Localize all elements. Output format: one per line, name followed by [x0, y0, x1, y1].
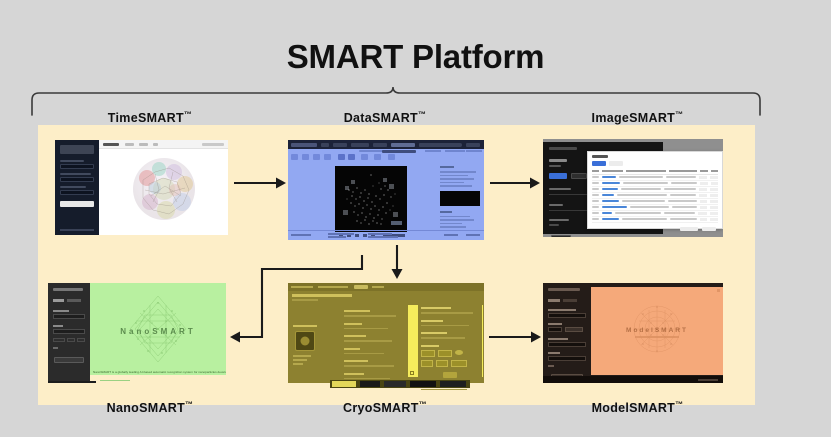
modelsmart-input-2[interactable] [548, 327, 562, 332]
nanosmart-field-label-1 [53, 310, 69, 312]
nanosmart-canvas[interactable]: NanoSMART NanoSMART is a globally leadin… [90, 283, 226, 383]
imagesmart-row-link[interactable] [602, 212, 611, 214]
cryosmart-setting-option-2[interactable] [438, 350, 452, 357]
smart-platform-diagram: SMART Platform TimeSMART™ DataSMART™ Ima… [0, 0, 831, 437]
datasmart-tool-icon-2[interactable] [302, 154, 309, 160]
panel-timesmart[interactable] [55, 140, 228, 235]
imagesmart-browse-button[interactable] [549, 173, 567, 179]
datasmart-menu-4[interactable] [351, 143, 369, 147]
nanosmart-object-label [53, 299, 64, 302]
imagesmart-page-next[interactable] [702, 227, 716, 231]
timesmart-footer [60, 229, 94, 231]
nanosmart-input-1[interactable] [53, 314, 85, 319]
datasmart-search-input[interactable] [430, 143, 462, 147]
imagesmart-logo [549, 147, 577, 150]
arrow-data-to-image [490, 176, 540, 195]
modelsmart-watermark-text: ModelSMART [591, 327, 723, 334]
page-title: SMART Platform [0, 38, 831, 76]
imagesmart-row-link[interactable] [602, 194, 614, 196]
datasmart-tool-icon-3[interactable] [313, 154, 320, 160]
nanosmart-footer-note [100, 380, 130, 382]
imagesmart-results-window[interactable] [587, 151, 723, 229]
imagesmart-field-label-1 [549, 188, 571, 190]
modelsmart-input-4[interactable] [548, 356, 586, 361]
datasmart-top-toolbar[interactable] [288, 140, 484, 149]
nanosmart-taskbar [48, 381, 96, 383]
datasmart-menu-5[interactable] [373, 143, 387, 147]
cryosmart-setting-option-3[interactable] [421, 360, 433, 367]
imagesmart-submit-button[interactable] [551, 235, 571, 237]
timesmart-account[interactable] [202, 143, 224, 146]
cryosmart-settings-group-1 [421, 320, 443, 322]
datasmart-status-bar [288, 230, 484, 240]
timesmart-logo [60, 145, 94, 154]
table-row[interactable] [592, 217, 718, 223]
modelsmart-object-value[interactable] [563, 299, 577, 302]
imagesmart-field-label-2 [549, 204, 563, 206]
imagesmart-filter-2[interactable] [609, 161, 623, 166]
datasmart-tool-icon-6[interactable] [348, 154, 355, 160]
datasmart-menu-active[interactable] [391, 143, 415, 147]
cryosmart-apply-button[interactable] [443, 372, 457, 378]
arrow-data-to-cryo [390, 245, 404, 284]
timesmart-tab-2[interactable] [125, 143, 134, 146]
cryosmart-filmstrip[interactable] [330, 380, 470, 388]
imagesmart-pagination[interactable] [588, 227, 716, 231]
column-label-datasmart: DataSMART™ [290, 110, 480, 125]
imagesmart-field-label-3 [549, 219, 569, 221]
cryosmart-setting-option-5[interactable] [451, 360, 467, 367]
modelsmart-object-label [548, 299, 560, 302]
nanosmart-logo [53, 288, 83, 291]
imagesmart-table-body[interactable] [592, 175, 718, 223]
modelsmart-close-icon[interactable] [717, 289, 720, 292]
nanosmart-option-1[interactable] [53, 338, 65, 342]
timesmart-tab-3[interactable] [139, 143, 148, 146]
imagesmart-row-link[interactable] [602, 182, 620, 184]
datasmart-tool-icon-5[interactable] [338, 154, 345, 160]
cryosmart-color-swatch[interactable] [455, 350, 463, 355]
modelsmart-logo [548, 288, 580, 291]
nanosmart-tagline: NanoSMART is a globally leading AI-based… [90, 370, 226, 374]
datasmart-properties-title [440, 166, 454, 168]
column-label-modelsmart: ModelSMART™ [540, 400, 735, 415]
modelsmart-input-3[interactable] [548, 342, 586, 347]
modelsmart-field-label-2 [548, 323, 562, 325]
datasmart-tool-icon-4[interactable] [324, 154, 331, 160]
modelsmart-field-label-1 [548, 309, 576, 311]
datasmart-tool-icon-7[interactable] [361, 154, 368, 160]
molecular-structure-graphic [125, 150, 203, 228]
modelsmart-field-label-3 [548, 338, 568, 340]
panel-modelsmart[interactable]: ModelSMART [543, 283, 723, 383]
imagesmart-row-link[interactable] [602, 218, 619, 220]
datasmart-preview-thumb[interactable] [440, 191, 480, 206]
datasmart-section-2-title [440, 211, 452, 213]
datasmart-micrograph-viewer[interactable] [335, 166, 407, 232]
cryosmart-setting-option-4[interactable] [436, 360, 448, 367]
modelsmart-watermark-subtitle [635, 336, 679, 338]
imagesmart-filter-active[interactable] [592, 161, 606, 166]
datasmart-tool-icon-9[interactable] [388, 154, 395, 160]
datasmart-breadcrumb [382, 150, 416, 153]
timesmart-tab-4[interactable] [153, 143, 158, 146]
datasmart-menu-3[interactable] [333, 143, 347, 147]
datasmart-menu-file[interactable] [291, 143, 317, 147]
timesmart-toolbar[interactable] [99, 140, 228, 149]
cryosmart-param-label-6 [344, 373, 364, 375]
timesmart-field-label-3 [60, 186, 86, 188]
datasmart-properties-panel[interactable] [440, 166, 480, 228]
panel-datasmart[interactable] [288, 140, 484, 240]
arrow-cryo-to-nano [226, 255, 366, 350]
column-label-timesmart: TimeSMART™ [50, 110, 250, 125]
datasmart-tool-icon-1[interactable] [291, 154, 298, 160]
imagesmart-row-link[interactable] [602, 176, 616, 178]
imagesmart-row-link[interactable] [602, 188, 618, 190]
datasmart-tab-a[interactable] [425, 150, 441, 152]
cryosmart-param-label-5 [344, 360, 368, 362]
datasmart-tab-strip-label [359, 150, 385, 152]
imagesmart-row-link[interactable] [602, 200, 619, 202]
cryosmart-settings-group-2 [421, 332, 447, 334]
timesmart-sidebar[interactable] [55, 140, 99, 235]
modelsmart-field-label-4 [548, 352, 560, 354]
timesmart-select[interactable] [60, 190, 94, 195]
nanosmart-field-label-2 [53, 325, 63, 327]
nanosmart-option-2[interactable] [67, 338, 75, 342]
nanosmart-option-3[interactable] [77, 338, 85, 342]
panel-nanosmart[interactable]: NanoSMART NanoSMART is a globally leadin… [48, 283, 226, 383]
cryosmart-settings-panel[interactable] [418, 305, 482, 379]
arrow-time-to-data [234, 176, 286, 195]
timesmart-tab-active[interactable] [103, 143, 119, 146]
cryosmart-settings-title [421, 307, 451, 309]
cryosmart-setting-option-1[interactable] [421, 350, 435, 357]
nanosmart-analyze-button[interactable] [54, 357, 84, 363]
imagesmart-results-title [592, 155, 608, 158]
cryosmart-scale-marker [410, 371, 414, 375]
imagesmart-page-prev[interactable] [680, 227, 698, 231]
imagesmart-row-link[interactable] [602, 206, 627, 208]
nanosmart-input-2[interactable] [53, 329, 85, 334]
imagesmart-section-import [549, 159, 567, 162]
modelsmart-pick-button[interactable] [565, 327, 583, 332]
nanosmart-sidebar[interactable] [48, 283, 90, 383]
timesmart-field-label [60, 160, 84, 162]
datasmart-tool-icon-8[interactable] [374, 154, 381, 160]
column-label-imagesmart: ImageSMART™ [540, 110, 735, 125]
nanosmart-watermark-text: NanoSMART [90, 327, 226, 336]
modelsmart-input-1[interactable] [548, 313, 586, 318]
timesmart-input-2[interactable] [60, 177, 94, 182]
datasmart-tab-b[interactable] [445, 150, 465, 152]
modelsmart-canvas[interactable]: ModelSMART [591, 287, 723, 375]
datasmart-icon-toolbar[interactable] [288, 149, 484, 164]
timesmart-input-1[interactable] [60, 164, 94, 169]
particle-scatter-graphic [335, 166, 407, 232]
modelsmart-sidebar[interactable] [543, 283, 591, 383]
nanosmart-object-value[interactable] [67, 299, 81, 302]
datasmart-tab-c[interactable] [466, 150, 482, 152]
timesmart-submit-button[interactable] [60, 201, 94, 207]
column-label-cryosmart: CryoSMART™ [290, 400, 480, 415]
datasmart-window-controls[interactable] [466, 143, 480, 147]
panel-imagesmart[interactable] [543, 139, 723, 237]
datasmart-menu-2[interactable] [321, 143, 329, 147]
timesmart-field-label-2 [60, 173, 91, 175]
modelsmart-status-bar [543, 376, 723, 383]
column-label-nanosmart: NanoSMART™ [50, 400, 250, 415]
cryosmart-settings-group-3 [421, 345, 439, 347]
arrow-cryo-to-model [489, 330, 541, 349]
imagesmart-clear-button[interactable] [571, 173, 587, 179]
timesmart-viewport[interactable] [99, 140, 228, 235]
